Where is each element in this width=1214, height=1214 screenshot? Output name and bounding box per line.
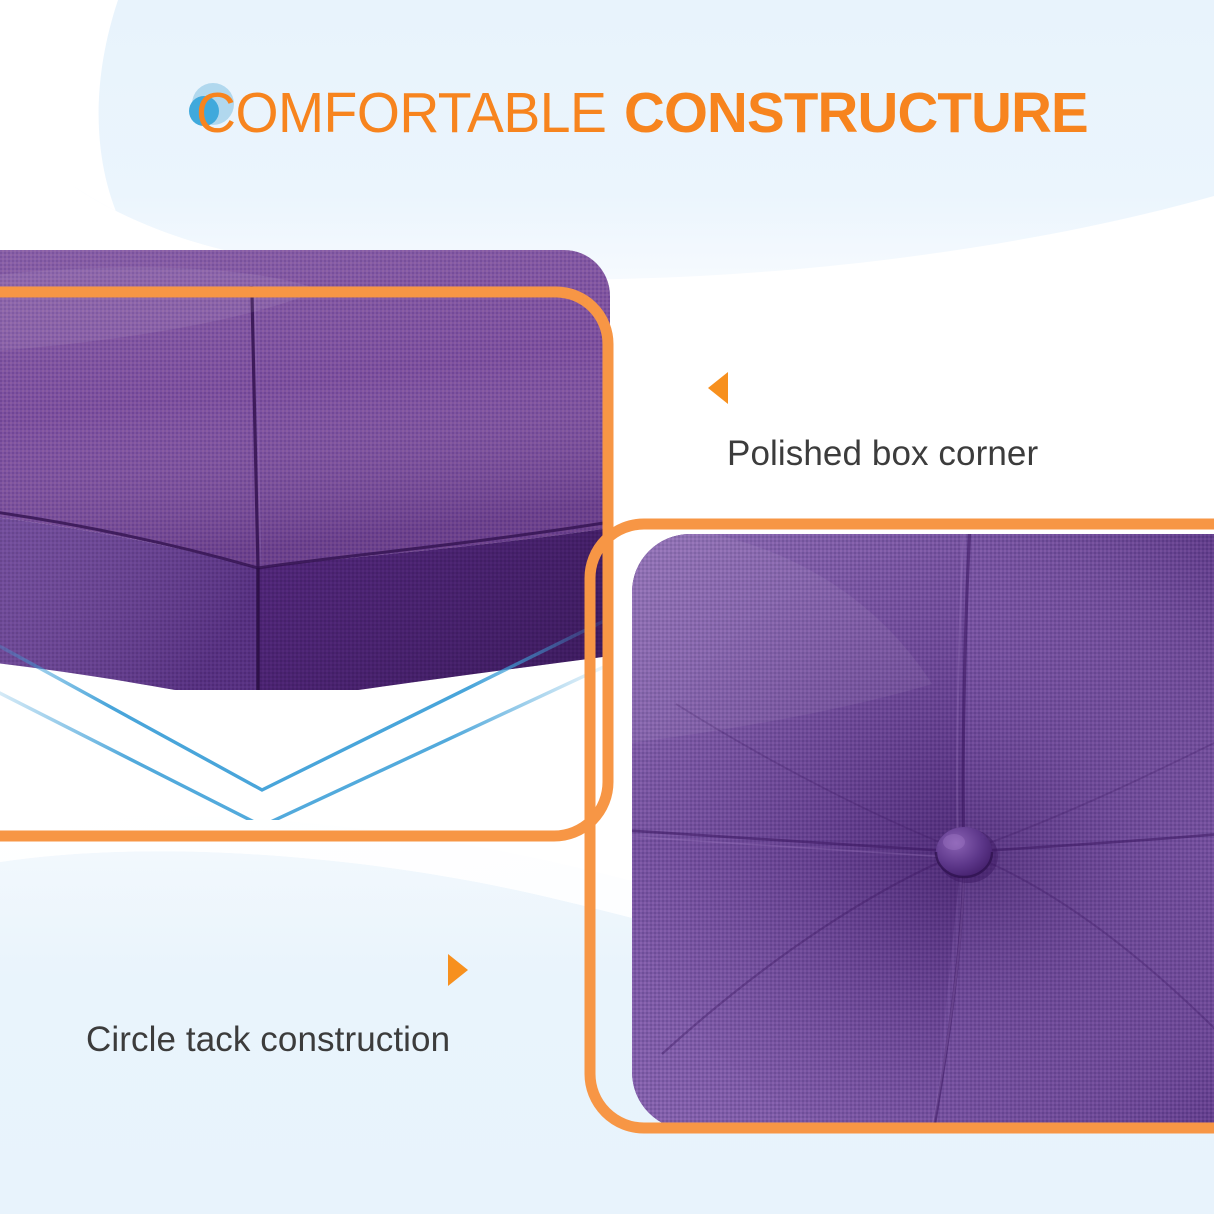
- callout-circle-tack-construction: Circle tack construction: [86, 1022, 450, 1057]
- chevron-line-outer: [0, 618, 610, 790]
- circle-tack-photo-art: [632, 534, 1214, 1130]
- callout-circle-tack-construction-label: Circle tack construction: [86, 1020, 450, 1059]
- triangle-left-icon: [708, 372, 728, 404]
- infographic-canvas: COMFORTABLE CONSTRUCTURE: [0, 0, 1214, 1214]
- chevron-line-inner: [0, 664, 610, 820]
- product-photo-circle-tack: [632, 534, 1214, 1130]
- tack-button-highlight: [943, 834, 965, 850]
- callout-polished-box-corner: Polished box corner: [727, 436, 1038, 471]
- page-title: COMFORTABLE CONSTRUCTURE: [196, 74, 1092, 152]
- triangle-right-icon: [448, 954, 468, 986]
- blue-chevron-accent-lines: [0, 600, 610, 820]
- callout-polished-box-corner-label: Polished box corner: [727, 434, 1038, 473]
- page-title-light: COMFORTABLE: [196, 85, 606, 142]
- page-title-bold: CONSTRUCTURE: [624, 85, 1088, 142]
